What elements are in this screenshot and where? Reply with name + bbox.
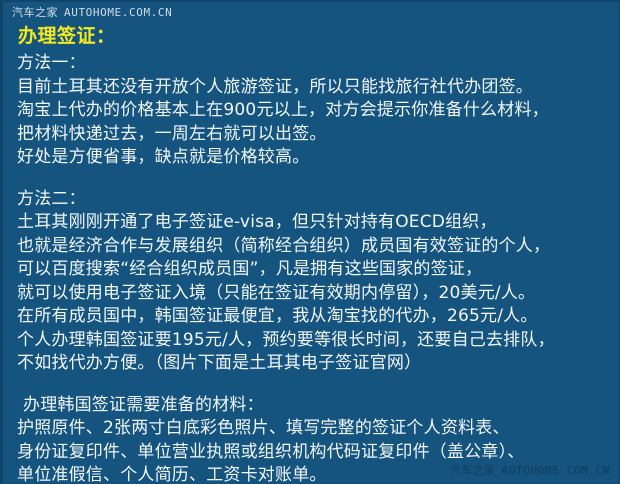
watermark-bottom-cn: 汽车之家 bbox=[450, 464, 496, 477]
visa-info-image: 汽车之家AUTOHOME.COM.CN 办理签证： 方法一： 目前土耳其还没有开… bbox=[0, 0, 620, 484]
watermark-bottom: 汽车之家AUTOHOME.COM.CN bbox=[450, 464, 610, 477]
section-line: 身份证复印件、单位营业执照或组织机构代码证复印件（盖公章）、 bbox=[17, 441, 617, 465]
section-line: 可以百度搜索“经合组织成员国”，凡是拥有这些国家的签证， bbox=[17, 258, 617, 282]
section-line: 好处是方便省事，缺点就是价格较高。 bbox=[17, 146, 617, 170]
section-method-one: 方法一： 目前土耳其还没有开放个人旅游签证，所以只能找旅行社代办团签。 淘宝上代… bbox=[15, 52, 617, 170]
article-body: 办理签证： 方法一： 目前土耳其还没有开放个人旅游签证，所以只能找旅行社代办团签… bbox=[3, 2, 620, 484]
section-line: 也就是经济合作与发展组织（简称经合组织）成员国有效签证的个人， bbox=[17, 235, 617, 259]
section-line: 护照原件、2张两寸白底彩色照片、填写完整的签证个人资料表、 bbox=[17, 417, 617, 441]
section-line: 目前土耳其还没有开放个人旅游签证，所以只能找旅行社代办团签。 bbox=[17, 76, 617, 100]
section-spacer bbox=[15, 170, 617, 188]
section-line: 把材料快递过去，一周左右就可以出签。 bbox=[17, 123, 617, 147]
page-title: 办理签证： bbox=[18, 24, 617, 49]
section-heading: 方法二： bbox=[17, 188, 617, 212]
section-line: 淘宝上代办的价格基本上在900元以上，对方会提示你准备什么材料， bbox=[17, 99, 617, 123]
section-spacer bbox=[15, 376, 617, 394]
section-line: 不如找代办方便。（图片下面是土耳其电子签证官网） bbox=[17, 352, 617, 376]
section-heading: 办理韩国签证需要准备的材料： bbox=[23, 394, 617, 418]
section-line: 土耳其刚刚开通了电子签证e-visa，但只针对持有OECD组织， bbox=[17, 211, 617, 235]
section-method-two: 方法二： 土耳其刚刚开通了电子签证e-visa，但只针对持有OECD组织， 也就… bbox=[15, 188, 617, 376]
section-heading: 方法一： bbox=[17, 52, 617, 76]
section-line: 个人办理韩国签证要195元/人，预约要等很长时间，还要自己去排队， bbox=[17, 329, 617, 353]
section-line: 在所有成员国中，韩国签证最便宜，我从淘宝找的代办，265元/人。 bbox=[17, 305, 617, 329]
section-line: 就可以使用电子签证入境（只能在签证有效期内停留），20美元/人。 bbox=[17, 282, 617, 306]
watermark-bottom-en: AUTOHOME.COM.CN bbox=[502, 464, 610, 477]
